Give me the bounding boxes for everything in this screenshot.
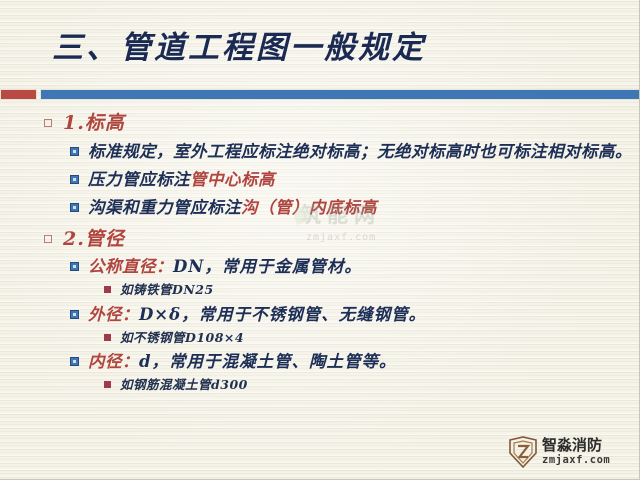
bullet-item-label: 公称直径： <box>88 257 173 276</box>
section-heading-label: 1.标高 <box>63 112 125 136</box>
slide-body: 1.标高 标准规定，室外工程应标注绝对标高；无绝对标高时也可标注相对标高。 压力… <box>0 104 640 394</box>
bullet-item-label: 内径： <box>88 352 139 371</box>
logo-url: zmjaxf.com <box>542 455 610 466</box>
example-text: 如不锈钢管D108×4 <box>120 330 244 345</box>
logo-name: 智淼消防 <box>542 438 610 454</box>
hollow-square-bullet-icon <box>44 235 52 243</box>
shield-diamond-icon <box>508 436 538 468</box>
example-reinforced-concrete-pipe: 如钢筋混凝土管d300 <box>0 376 640 394</box>
slide-title: 三、管道工程图一般规定 <box>52 22 426 67</box>
section-heading-2: 2.管径 <box>0 228 640 252</box>
hollow-square-bullet-icon <box>44 119 52 127</box>
bullet-item-inner-diameter: 内径：d，常用于混凝土管、陶土管等。 <box>0 350 640 374</box>
bullet-item-highlight: 沟（管）内底标高 <box>241 198 377 217</box>
bullet-item-standard-spec: 标准规定，室外工程应标注绝对标高；无绝对标高时也可标注相对标高。 <box>0 140 640 164</box>
bullet-item-gravity-pipe: 沟渠和重力管应标注沟（管）内底标高 <box>0 196 640 220</box>
section-heading-1: 1.标高 <box>0 112 640 136</box>
blue-square-bullet-icon <box>70 357 79 366</box>
site-logo: 智淼消防 zmjaxf.com <box>508 432 636 472</box>
blue-square-bullet-icon <box>70 175 79 184</box>
blue-square-bullet-icon <box>70 310 79 319</box>
bullet-item-label: 外径： <box>88 305 139 324</box>
small-square-bullet-icon <box>104 334 111 341</box>
title-rule-red <box>0 89 37 100</box>
small-square-bullet-icon <box>104 286 111 293</box>
title-rule-blue <box>40 89 640 100</box>
section-heading-label: 2.管径 <box>63 228 125 252</box>
bullet-item-text: D×δ，常用于不锈钢管、无缝钢管。 <box>139 305 426 324</box>
bullet-item-outer-diameter: 外径：D×δ，常用于不锈钢管、无缝钢管。 <box>0 303 640 327</box>
example-text: 如钢筋混凝土管d300 <box>120 377 248 392</box>
blue-square-bullet-icon <box>70 203 79 212</box>
bullet-item-text: DN，常用于金属管材。 <box>173 257 362 276</box>
logo-text-block: 智淼消防 zmjaxf.com <box>542 438 610 467</box>
bullet-item-text: 压力管应标注 <box>88 170 190 189</box>
example-text: 如铸铁管DN25 <box>120 282 214 297</box>
blue-square-bullet-icon <box>70 147 79 156</box>
example-cast-iron-pipe: 如铸铁管DN25 <box>0 281 640 299</box>
presentation-slide: 三、管道工程图一般规定 1.标高 标准规定，室外工程应标注绝对标高；无绝对标高时… <box>0 0 640 480</box>
blue-square-bullet-icon <box>70 262 79 271</box>
bullet-item-nominal-diameter: 公称直径：DN，常用于金属管材。 <box>0 255 640 279</box>
bullet-item-text: 沟渠和重力管应标注 <box>88 198 241 217</box>
small-square-bullet-icon <box>104 381 111 388</box>
bullet-item-highlight: 管中心标高 <box>190 170 275 189</box>
bullet-item-text: d，常用于混凝土管、陶土管等。 <box>139 352 397 371</box>
bullet-item-text: 标准规定，室外工程应标注绝对标高；无绝对标高时也可标注相对标高。 <box>88 142 632 161</box>
bullet-item-pressure-pipe: 压力管应标注管中心标高 <box>0 168 640 192</box>
example-stainless-pipe: 如不锈钢管D108×4 <box>0 329 640 347</box>
